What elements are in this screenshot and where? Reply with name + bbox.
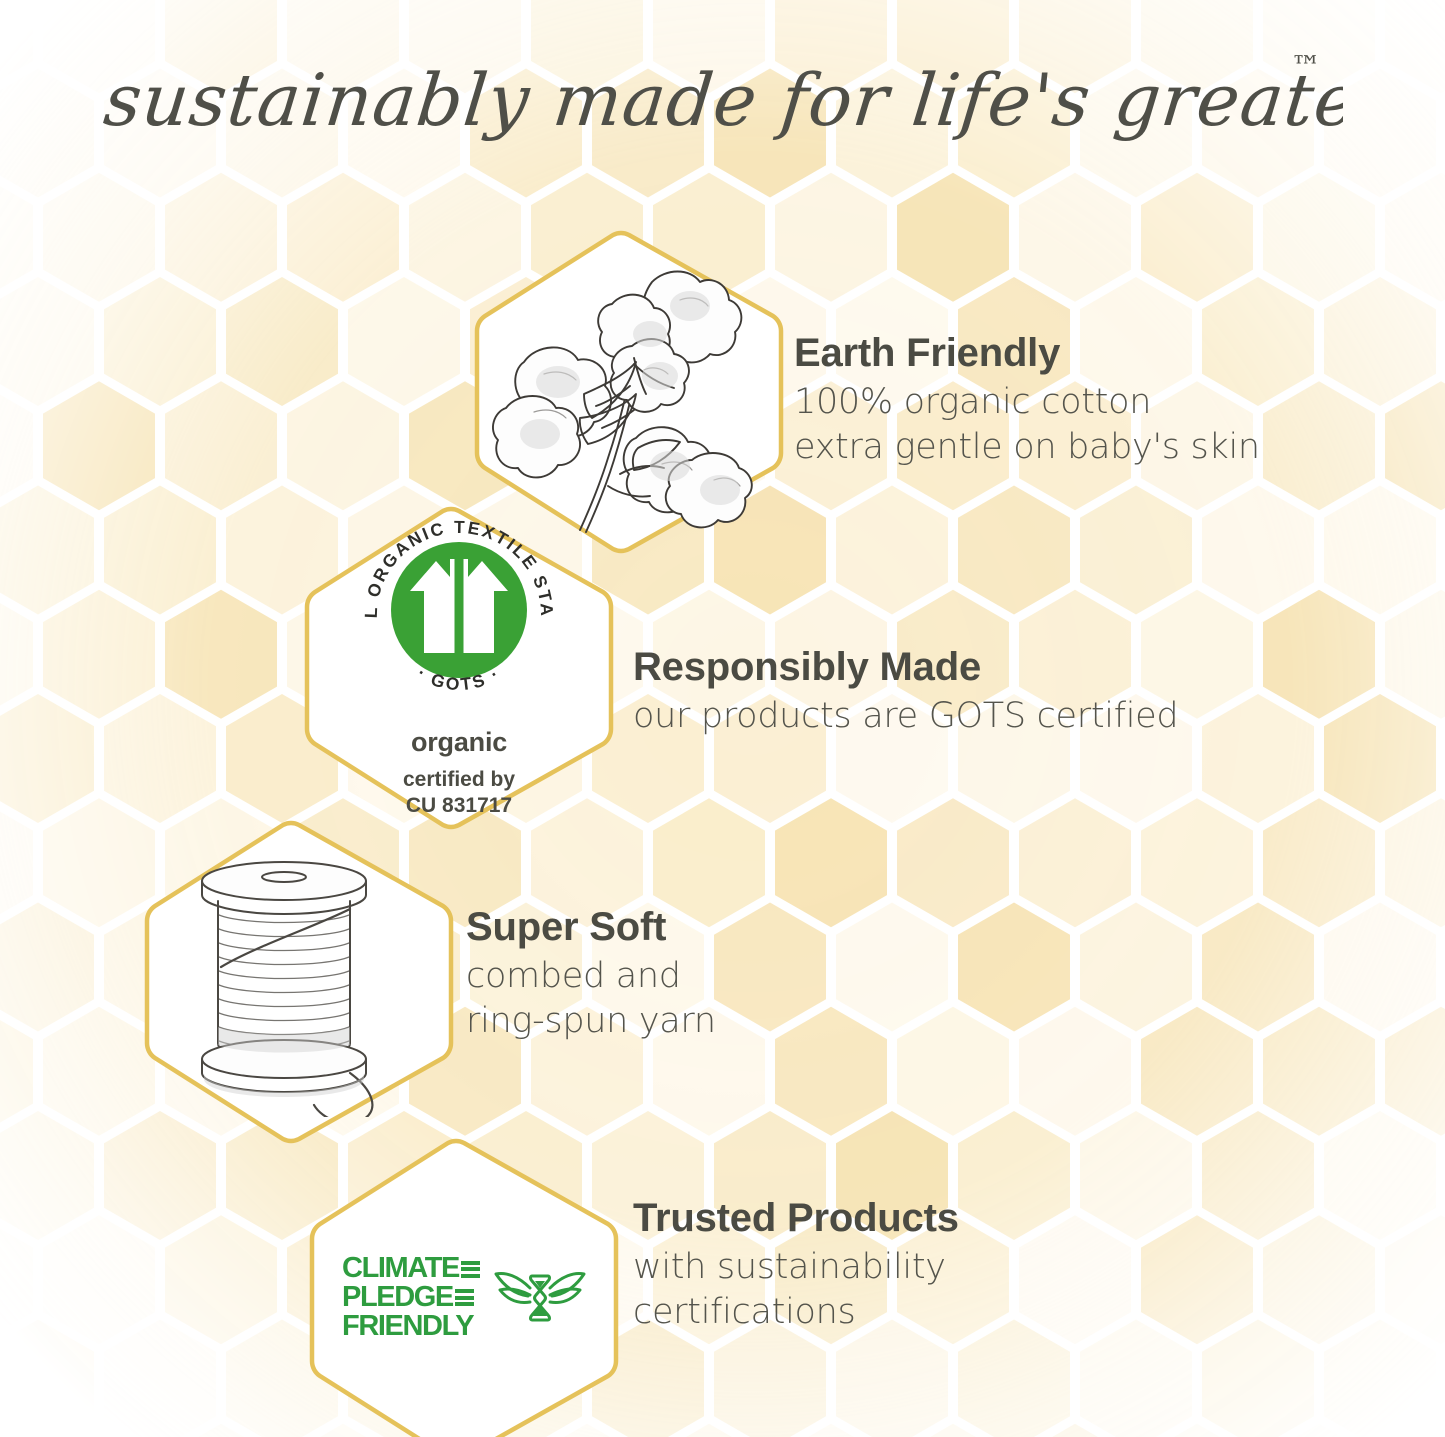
cpf-bars-icon [455,1289,474,1306]
climate-pledge-wordmark: CLIMATE PLEDGE FRIENDLY [342,1255,480,1340]
infographic-canvas: sustainably made for life's greatest joy… [0,0,1445,1437]
gots-organic-label: organic [411,727,507,758]
cpf-word-climate: CLIMATE [342,1255,459,1283]
feature-subtitle-line: extra gentle on baby's skin [794,425,1260,471]
feature-subtitle-line: certifications [633,1290,959,1336]
climate-pledge-friendly-logo-icon: CLIMATE PLEDGE FRIENDLY [342,1255,586,1340]
gots-seal-icon: GLOBAL ORGANIC TEXTILE STANDARD · GOTS · [354,505,564,715]
feature-hexagon-responsibly-made: GLOBAL ORGANIC TEXTILE STANDARD · GOTS ·… [298,506,620,830]
gots-certified-by-label: certified by [403,767,515,793]
feature-title: Trusted Products [633,1196,959,1241]
cpf-bars-icon [461,1261,480,1278]
cpf-word-pledge: PLEDGE [342,1284,453,1312]
gots-certifier-info: certified by CU 831717 [403,767,515,818]
feature-hexagon-super-soft [138,820,460,1144]
feature-subtitle-line: 100% organic cotton [794,380,1260,426]
brand-tagline: sustainably made for life's greatest joy… [0,38,1445,158]
trademark-symbol: ™ [1291,50,1321,85]
winged-hourglass-icon [494,1262,586,1334]
tagline-script-text: sustainably made for life's greatest joy [103,59,1343,143]
gots-certifier-code: CU 831717 [403,793,515,819]
feature-title: Responsibly Made [633,645,1178,690]
feature-text-responsibly-made: Responsibly Made our products are GOTS c… [633,645,1178,739]
cpf-word-friendly: FRIENDLY [342,1313,473,1341]
cotton-branch-sketch-icon [484,242,774,542]
feature-hexagon-trusted-products: CLIMATE PLEDGE FRIENDLY [303,1138,625,1437]
feature-subtitle-line: ring-spun yarn [466,999,716,1045]
feature-text-earth-friendly: Earth Friendly 100% organic cotton extra… [794,331,1260,471]
feature-title: Super Soft [466,905,716,950]
feature-subtitle-line: with sustainability [633,1245,959,1291]
feature-title: Earth Friendly [794,331,1260,376]
feature-subtitle-line: our products are GOTS certified [633,694,1178,740]
gots-certified-logo-icon: GLOBAL ORGANIC TEXTILE STANDARD · GOTS ·… [354,505,564,818]
thread-spool-sketch-icon [174,847,424,1117]
feature-text-super-soft: Super Soft combed and ring-spun yarn [466,905,716,1045]
feature-subtitle-line: combed and [466,954,716,1000]
feature-text-trusted-products: Trusted Products with sustainability cer… [633,1196,959,1336]
